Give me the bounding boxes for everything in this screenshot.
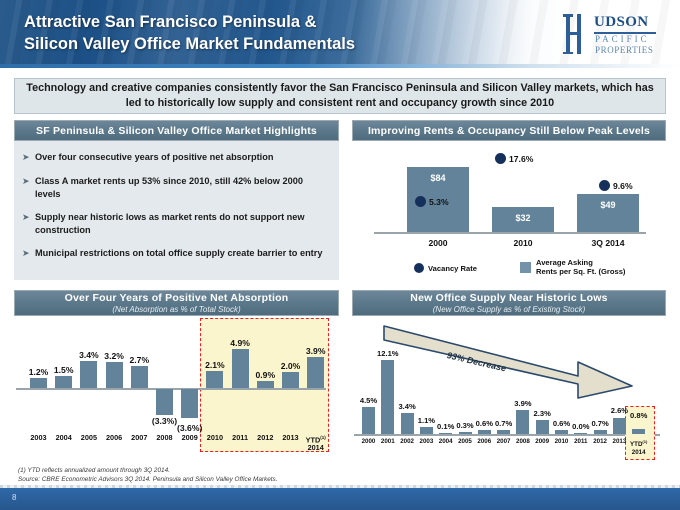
bar-absorption-label: 2.1% — [197, 360, 232, 370]
bar-supply — [574, 433, 587, 434]
bar-absorption — [282, 372, 299, 388]
footnote-source: Source: CBRE Econometric Advisors 3Q 201… — [18, 475, 438, 484]
bar-absorption — [206, 371, 223, 388]
bar-absorption-label: 3.9% — [298, 346, 333, 356]
logo-word-pacific: PACIFIC — [595, 34, 650, 44]
bar-supply — [381, 360, 394, 434]
net-absorption-title: Over Four Years of Positive Net Absorpti… — [65, 292, 289, 304]
vacancy-rate-label: 9.6% — [613, 181, 633, 191]
list-item: ➤ Class A market rents up 53% since 2010… — [22, 175, 329, 200]
bar-rent-label: $84 — [407, 173, 469, 183]
highlights-panel-header: SF Peninsula & Silicon Valley Office Mar… — [14, 120, 339, 141]
bar-absorption-label: 2.0% — [273, 361, 308, 371]
legend-marker-vacancy-icon — [414, 263, 424, 273]
logo-h-serif-bottom — [563, 52, 573, 55]
logo-word-properties: PROPERTIES — [595, 45, 653, 55]
list-item-label: Supply near historic lows as market rent… — [35, 211, 329, 236]
bar-supply — [497, 430, 510, 434]
bar-supply-label: 4.5% — [354, 396, 383, 405]
bar-absorption-label: 1.5% — [46, 365, 81, 375]
x-axis-tick: 2010 — [486, 238, 560, 248]
bar-absorption — [156, 389, 173, 415]
vacancy-rate-dot — [415, 196, 426, 207]
bullet-arrow-icon: ➤ — [22, 211, 35, 236]
bar-rent-label: $49 — [577, 200, 639, 210]
bar-supply-label: 12.1% — [373, 349, 402, 358]
bar-absorption-label: 2.7% — [122, 355, 157, 365]
x-axis-tick: YTD(1)2014 — [299, 434, 332, 452]
decrease-arrow-annotation — [382, 324, 642, 396]
bar-absorption-label: 0.9% — [248, 370, 283, 380]
net-absorption-panel-header: Over Four Years of Positive Net Absorpti… — [14, 290, 339, 316]
new-supply-subtitle: (New Office Supply as % of Existing Stoc… — [433, 305, 586, 314]
bar-absorption — [307, 357, 324, 388]
vacancy-rate-dot — [599, 180, 610, 191]
net-absorption-plot: 1.2%20031.5%20043.4%20053.2%20062.7%2007… — [14, 318, 339, 462]
logo-h-crossbar — [566, 32, 581, 35]
legend-label-rents: Average Asking Rents per Sq. Ft. (Gross) — [536, 258, 625, 276]
bar-supply-label: 0.7% — [489, 419, 518, 428]
x-axis-tick: 2000 — [401, 238, 475, 248]
list-item: ➤ Municipal restrictions on total office… — [22, 247, 329, 260]
callout-text: Technology and creative companies consis… — [15, 81, 665, 111]
page-title-line2: Silicon Valley Office Market Fundamental… — [24, 33, 544, 55]
bar-supply — [439, 433, 452, 434]
header-underline — [0, 64, 680, 68]
net-absorption-subtitle: (Net Absorption as % of Total Stock) — [112, 305, 240, 314]
bar-supply-label: 0.7% — [586, 419, 615, 428]
new-supply-title: New Office Supply Near Historic Lows — [410, 292, 607, 304]
bar-supply-label: 3.9% — [508, 399, 537, 408]
rents-occupancy-panel-header: Improving Rents & Occupancy Still Below … — [352, 120, 666, 141]
hudson-pacific-logo: UDSON PACIFIC PROPERTIES — [564, 12, 664, 58]
slide: Attractive San Francisco Peninsula & Sil… — [0, 0, 680, 510]
bar-absorption — [232, 349, 249, 388]
bar-absorption — [181, 389, 198, 418]
logo-h-mark-icon — [564, 14, 594, 54]
rents-occupancy-plot: $842000$322010$493Q 20145.3%17.6%9.6% — [352, 144, 666, 252]
highlights-panel-title: SF Peninsula & Silicon Valley Office Mar… — [36, 125, 317, 137]
list-item: ➤ Supply near historic lows as market re… — [22, 211, 329, 236]
bullet-arrow-icon: ➤ — [22, 175, 35, 200]
highlights-panel: SF Peninsula & Silicon Valley Office Mar… — [14, 120, 339, 280]
bar-supply — [362, 407, 375, 434]
x-axis-line — [354, 434, 660, 436]
bar-supply-label: 2.3% — [528, 409, 557, 418]
new-supply-panel-header: New Office Supply Near Historic Lows (Ne… — [352, 290, 666, 316]
bar-supply-label: 3.4% — [393, 402, 422, 411]
logo-word-hudson: UDSON — [594, 14, 649, 31]
bar-supply — [613, 418, 626, 434]
bar-supply-label: 0.8% — [624, 411, 653, 420]
vacancy-rate-dot — [495, 153, 506, 164]
callout-banner: Technology and creative companies consis… — [14, 78, 666, 114]
list-item-label: Class A market rents up 53% since 2010, … — [35, 175, 329, 200]
footer-bar — [0, 488, 680, 510]
bar-supply — [632, 429, 645, 434]
bar-absorption — [80, 361, 97, 388]
bar-absorption-label: (3.6%) — [170, 423, 209, 433]
logo-h-serif-top — [563, 14, 573, 17]
bullet-arrow-icon: ➤ — [22, 247, 35, 260]
bar-absorption — [257, 381, 274, 388]
bar-supply — [478, 430, 491, 434]
x-axis-line — [374, 232, 646, 234]
page-title-line1: Attractive San Francisco Peninsula & — [24, 13, 317, 31]
vacancy-rate-label: 5.3% — [429, 197, 449, 207]
bullet-arrow-icon: ➤ — [22, 151, 35, 164]
highlights-panel-body: ➤ Over four consecutive years of positiv… — [14, 141, 339, 280]
new-supply-plot: 93% Decrease4.5%200012.1%20013.4%20021.1… — [352, 318, 666, 462]
vacancy-rate-label: 17.6% — [509, 154, 533, 164]
list-item-label: Over four consecutive years of positive … — [35, 151, 273, 164]
rents-occupancy-panel: Improving Rents & Occupancy Still Below … — [352, 120, 666, 280]
bar-absorption — [131, 366, 148, 388]
x-axis-tick: 3Q 2014 — [571, 238, 645, 248]
bar-absorption — [106, 362, 123, 388]
bar-supply — [459, 432, 472, 434]
legend-label-vacancy: Vacancy Rate — [428, 264, 477, 273]
bar-supply — [594, 430, 607, 434]
rents-occupancy-title: Improving Rents & Occupancy Still Below … — [368, 125, 650, 137]
page-title: Attractive San Francisco Peninsula & Sil… — [24, 11, 544, 55]
legend-marker-rents-icon — [520, 262, 531, 273]
slide-header: Attractive San Francisco Peninsula & Sil… — [0, 0, 680, 68]
x-axis-tick: YTD(1)2014 — [626, 438, 651, 456]
bar-absorption-label: 4.9% — [223, 338, 258, 348]
rents-occupancy-legend: Vacancy RateAverage Asking Rents per Sq.… — [352, 256, 666, 280]
new-supply-panel: New Office Supply Near Historic Lows (Ne… — [352, 290, 666, 462]
footnote-ytd: (1) YTD reflects annualized amount throu… — [18, 466, 438, 475]
list-item-label: Municipal restrictions on total office s… — [35, 247, 322, 260]
page-number: 8 — [12, 493, 16, 502]
net-absorption-panel: Over Four Years of Positive Net Absorpti… — [14, 290, 339, 462]
bar-absorption — [55, 376, 72, 388]
list-item: ➤ Over four consecutive years of positiv… — [22, 151, 329, 164]
bar-absorption — [30, 378, 47, 388]
decrease-arrow-icon — [382, 324, 642, 402]
footnotes: (1) YTD reflects annualized amount throu… — [18, 466, 438, 484]
bar-rent-label: $32 — [492, 213, 554, 223]
